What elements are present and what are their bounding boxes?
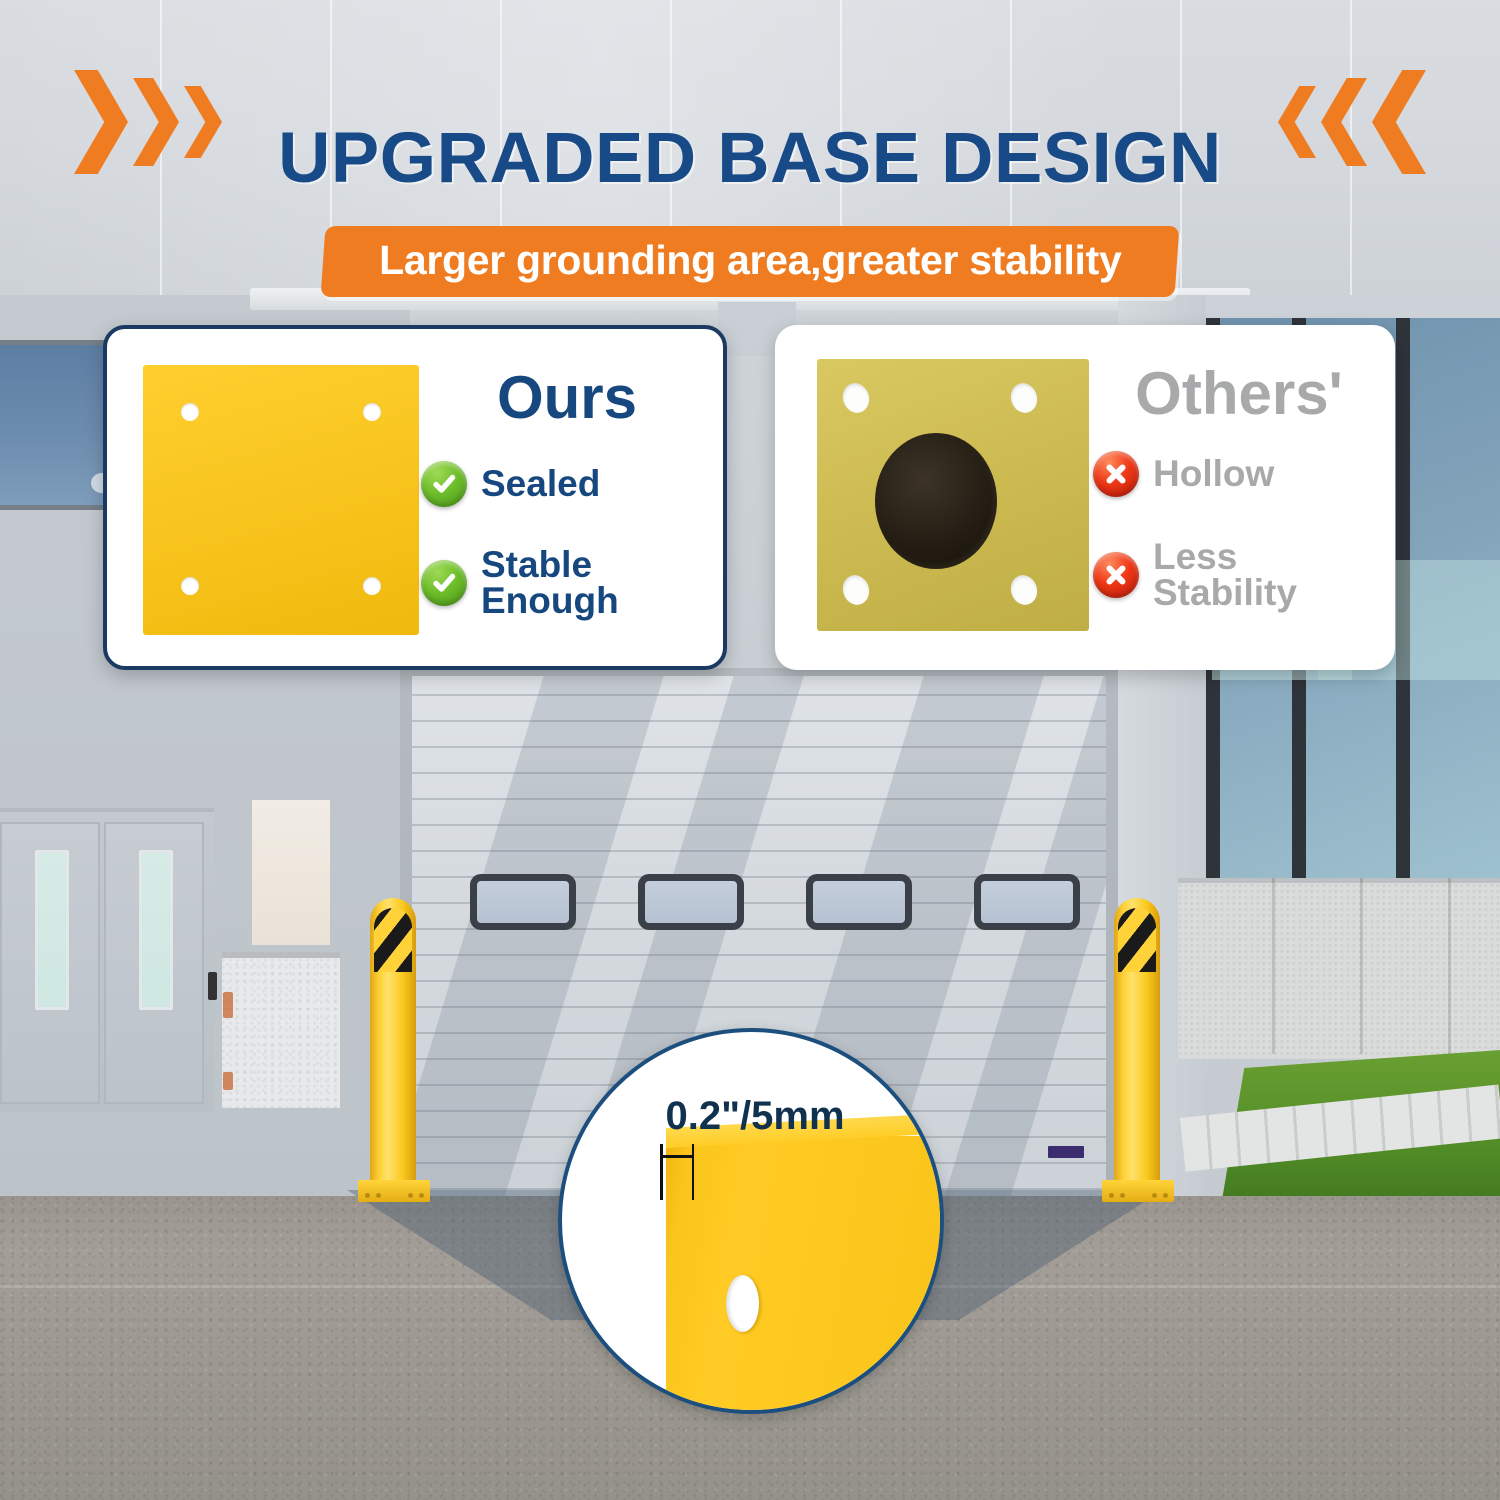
- left-stone-base: [222, 952, 340, 1108]
- garage-window: [806, 874, 912, 930]
- others-label: Others': [1083, 359, 1395, 428]
- dimension-label: 0.2"/5mm: [562, 1094, 944, 1139]
- comparison-card-ours: Ours Sealed Stable Enough: [103, 325, 727, 670]
- product-infographic: UPGRADED BASE DESIGN Larger grounding ar…: [0, 0, 1500, 1500]
- rust-mark: [223, 992, 233, 1018]
- check-circle-icon: [421, 560, 467, 606]
- others-feature-1: Hollow: [1093, 451, 1274, 497]
- door-handle: [208, 972, 217, 1000]
- ours-feature-2: Stable Enough: [421, 547, 619, 620]
- bolt-hole: [726, 1275, 759, 1332]
- subtitle-banner: Larger grounding area,greater stability: [320, 226, 1179, 297]
- subtitle-text: Larger grounding area,greater stability: [379, 237, 1121, 284]
- chevrons-left-icon: [1278, 70, 1426, 174]
- ours-feature-2-label: Stable Enough: [481, 547, 619, 620]
- others-card-content: Others' Hollow Less Stability: [1083, 325, 1395, 670]
- plate-edge-closeup: [666, 1136, 944, 1414]
- garage-window: [638, 874, 744, 930]
- ours-card-content: Ours Sealed Stable Enough: [411, 329, 723, 666]
- garage-sticker: [1048, 1146, 1084, 1158]
- others-base-plate-image: [817, 359, 1089, 631]
- x-circle-icon: [1093, 451, 1139, 497]
- wall-panel-cream: [252, 800, 330, 945]
- others-feature-1-label: Hollow: [1153, 456, 1274, 492]
- thickness-zoom-callout: 0.2"/5mm: [558, 1028, 944, 1414]
- page-title: UPGRADED BASE DESIGN: [0, 118, 1500, 199]
- concrete-block-base: [1178, 878, 1500, 1059]
- check-circle-icon: [421, 461, 467, 507]
- ours-label: Ours: [411, 363, 723, 432]
- hollow-center-hole: [875, 433, 997, 569]
- ours-feature-1-label: Sealed: [481, 466, 600, 502]
- comparison-card-others: Others' Hollow Less Stability: [775, 325, 1395, 670]
- garage-window: [470, 874, 576, 930]
- header: UPGRADED BASE DESIGN Larger grounding ar…: [0, 58, 1500, 238]
- x-circle-icon: [1093, 552, 1139, 598]
- dimension-marker-icon: [660, 1144, 694, 1200]
- ours-feature-1: Sealed: [421, 461, 600, 507]
- entry-double-door: [0, 808, 214, 1112]
- others-feature-2-label: Less Stability: [1153, 539, 1297, 612]
- ours-base-plate-image: [143, 365, 419, 635]
- rust-mark: [223, 1072, 233, 1090]
- others-feature-2: Less Stability: [1093, 539, 1297, 612]
- garage-window: [974, 874, 1080, 930]
